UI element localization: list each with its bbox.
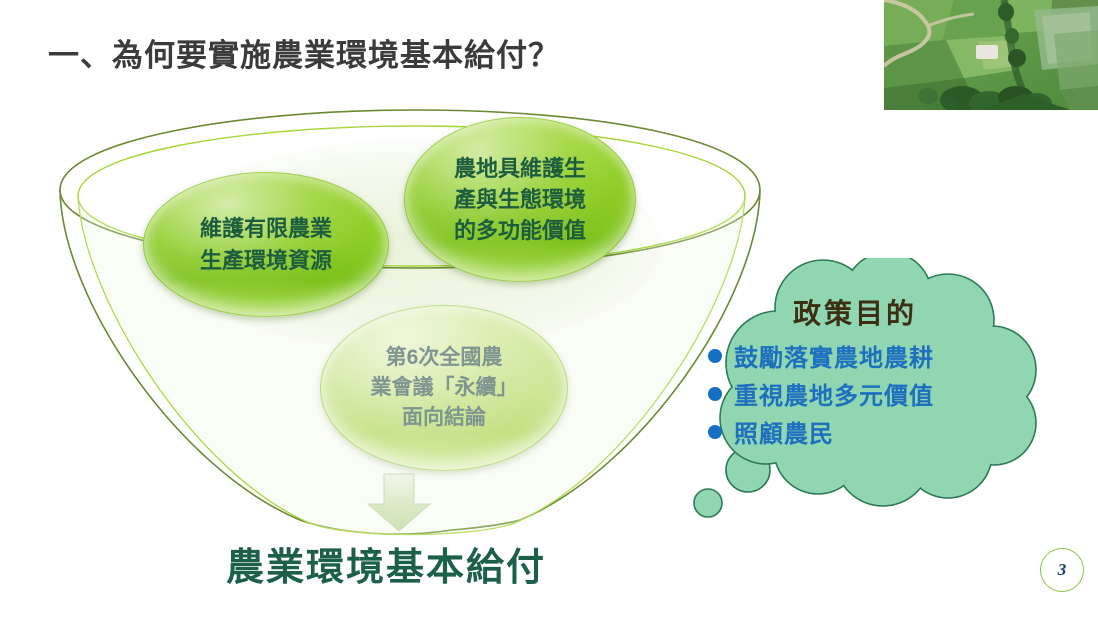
bullet-icon xyxy=(708,425,722,439)
bottom-caption: 農業環境基本給付 xyxy=(226,536,546,591)
bubble-line: 的多功能價值 xyxy=(454,215,586,246)
down-arrow-icon xyxy=(360,472,438,534)
bubble-line: 業會議「永續」 xyxy=(371,373,518,403)
bubble-farmland-multifunction-value[interactable]: 農地具維護生 產與生態環境 的多功能價值 xyxy=(404,117,636,282)
bubble-maintain-farm-resources[interactable]: 維護有限農業 生產環境資源 xyxy=(143,172,389,317)
cloud-content: 政策目的 鼓勵落實農地農耕 重視農地多元價值 照顧農民 xyxy=(690,292,1020,452)
bullet-icon xyxy=(708,387,722,401)
cloud-list-item[interactable]: 鼓勵落實農地農耕 xyxy=(708,338,1020,373)
aerial-photo-artwork xyxy=(884,0,1098,110)
aerial-rice-field-photo xyxy=(884,0,1098,110)
cloud-list-item[interactable]: 重視農地多元價值 xyxy=(708,376,1020,411)
cloud-item-label: 照顧農民 xyxy=(734,414,834,449)
page-number-badge: 3 xyxy=(1040,548,1084,592)
bubble-line: 維護有限農業 xyxy=(200,213,332,244)
cloud-title: 政策目的 xyxy=(690,292,1020,332)
bubble-line: 面向結論 xyxy=(402,403,486,433)
bullet-icon xyxy=(708,349,722,363)
bubble-line: 農地具維護生 xyxy=(454,153,586,184)
bubble-6th-national-agriculture-conference[interactable]: 第6次全國農 業會議「永續」 面向結論 xyxy=(320,305,568,471)
page-title: 一、為何要實施農業環境基本給付？ xyxy=(48,30,560,75)
bubble-line: 第6次全國農 xyxy=(386,343,503,373)
slide-canvas: 一、為何要實施農業環境基本給付？ xyxy=(0,0,1098,617)
cloud-item-label: 重視農地多元價值 xyxy=(734,376,934,411)
bubble-line: 生產環境資源 xyxy=(200,245,332,276)
cloud-item-label: 鼓勵落實農地農耕 xyxy=(734,338,934,373)
cloud-list-item[interactable]: 照顧農民 xyxy=(708,414,1020,449)
bubble-line: 產與生態環境 xyxy=(454,184,586,215)
